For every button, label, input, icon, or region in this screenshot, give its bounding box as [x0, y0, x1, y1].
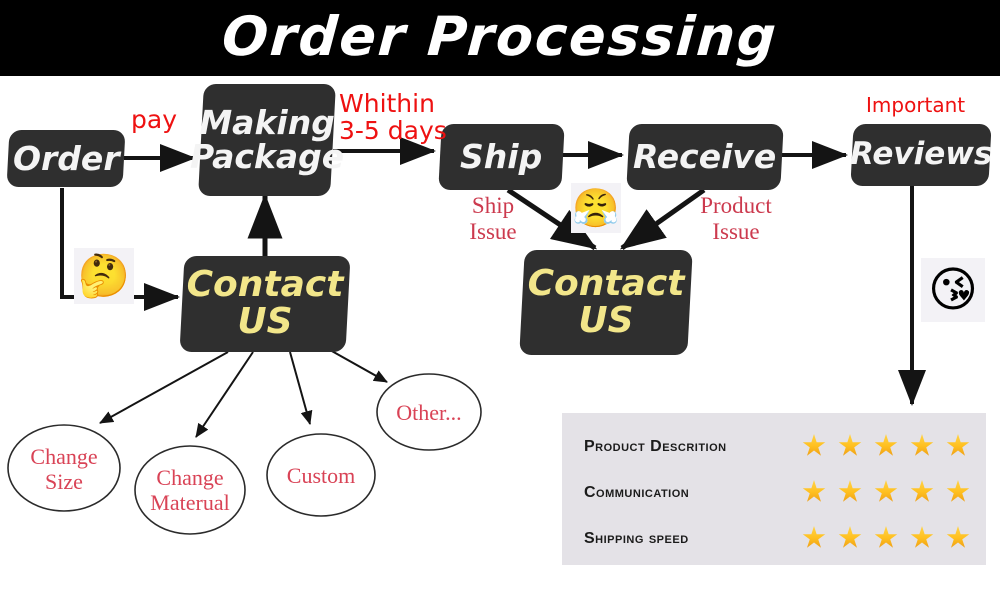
label-product-issue: Product Issue [688, 193, 784, 245]
node-making-package-label: Making Package [190, 106, 344, 173]
kissing-heart-face-glyph: 😘 [928, 262, 978, 318]
node-contact-us-right-label: Contact US [522, 266, 690, 339]
option-custom-label[interactable]: Custom [271, 462, 371, 488]
star-icon [799, 478, 829, 508]
node-order-label: Order [13, 142, 120, 176]
star-icon [943, 432, 973, 462]
rating-row-product-description: Product Descrition [584, 425, 979, 469]
arrow-contact-to-other [330, 350, 387, 382]
angry-steam-face-icon: 😤 [571, 183, 621, 233]
label-within-days: Whithin 3-5 days [339, 90, 447, 144]
star-icon [943, 524, 973, 554]
rating-label-product-description: Product Descrition [584, 438, 799, 456]
node-contact-us-left[interactable]: Contact US [179, 256, 350, 352]
label-pay: pay [131, 106, 177, 133]
rating-stars-product-description[interactable] [799, 432, 973, 462]
rating-stars-shipping-speed[interactable] [799, 524, 973, 554]
star-icon [943, 478, 973, 508]
rating-label-communication: Communication [584, 484, 799, 502]
star-icon [907, 478, 937, 508]
rating-label-shipping-speed: Shipping speed [584, 530, 799, 548]
star-icon [835, 478, 865, 508]
node-ship-label: Ship [460, 140, 542, 174]
option-change-size-label[interactable]: Change Size [14, 443, 114, 495]
node-contact-us-right[interactable]: Contact US [519, 250, 693, 355]
kissing-heart-face-icon: 😘 [921, 258, 985, 322]
star-icon [871, 478, 901, 508]
ratings-panel: Product Descrition Communication Shippin… [562, 413, 986, 565]
page-title: Order Processing [0, 4, 1000, 70]
node-reviews-label: Reviews [850, 139, 992, 171]
star-icon [835, 524, 865, 554]
node-ship[interactable]: Ship [438, 124, 564, 190]
thinking-face-icon: 🤔 [74, 248, 134, 304]
order-processing-infographic: Order Processing [0, 0, 1000, 600]
star-icon [907, 432, 937, 462]
star-icon [871, 432, 901, 462]
star-icon [835, 432, 865, 462]
star-icon [799, 432, 829, 462]
thinking-face-glyph: 🤔 [78, 251, 130, 301]
node-order[interactable]: Order [7, 130, 126, 187]
rating-row-communication: Communication [584, 471, 979, 515]
angry-steam-face-glyph: 😤 [572, 186, 619, 231]
arrow-contact-to-change-size [100, 352, 228, 423]
header-banner: Order Processing [0, 0, 1000, 76]
star-icon [871, 524, 901, 554]
rating-stars-communication[interactable] [799, 478, 973, 508]
star-icon [907, 524, 937, 554]
node-receive[interactable]: Receive [626, 124, 783, 190]
label-ship-issue: Ship Issue [452, 193, 534, 245]
node-making-package[interactable]: Making Package [198, 84, 336, 196]
label-important: Important [866, 92, 965, 119]
node-reviews[interactable]: Reviews [850, 124, 991, 186]
arrow-contact-to-change-material [196, 352, 253, 437]
node-receive-label: Receive [633, 140, 776, 174]
node-contact-us-left-label: Contact US [182, 267, 348, 340]
arrow-contact-to-custom [290, 352, 310, 424]
option-change-material-label[interactable]: Change Materual [138, 464, 242, 516]
rating-row-shipping-speed: Shipping speed [584, 517, 979, 561]
star-icon [799, 524, 829, 554]
option-other-label[interactable]: Other... [379, 399, 479, 425]
